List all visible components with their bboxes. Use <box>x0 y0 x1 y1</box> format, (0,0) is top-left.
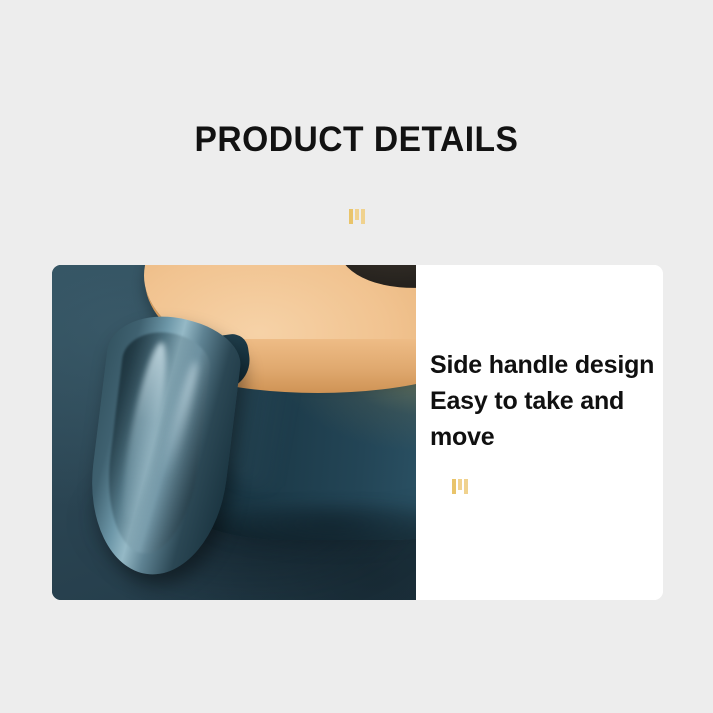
page-header: PRODUCT DETAILS <box>0 118 713 162</box>
ornament-bar-right <box>361 209 365 224</box>
gold-triple-bar-ornament <box>452 479 468 494</box>
caption-ornament <box>430 466 663 494</box>
gold-triple-bar-ornament <box>349 209 365 224</box>
ornament-bar-left <box>452 479 456 494</box>
ornament-bar-middle <box>458 479 462 490</box>
page-title: PRODUCT DETAILS <box>14 118 698 162</box>
caption-line-2: Easy to take and <box>430 383 663 419</box>
header-ornament <box>0 196 713 224</box>
product-detail-card: Side handle design Easy to take and move <box>52 265 663 600</box>
ornament-bar-left <box>349 209 353 224</box>
ornament-bar-middle <box>355 209 359 220</box>
caption-line-1: Side handle design <box>430 347 663 383</box>
caption-line-3: move <box>430 419 663 455</box>
caption-panel: Side handle design Easy to take and move <box>416 265 663 600</box>
product-photo <box>52 265 416 600</box>
ornament-bar-right <box>464 479 468 494</box>
